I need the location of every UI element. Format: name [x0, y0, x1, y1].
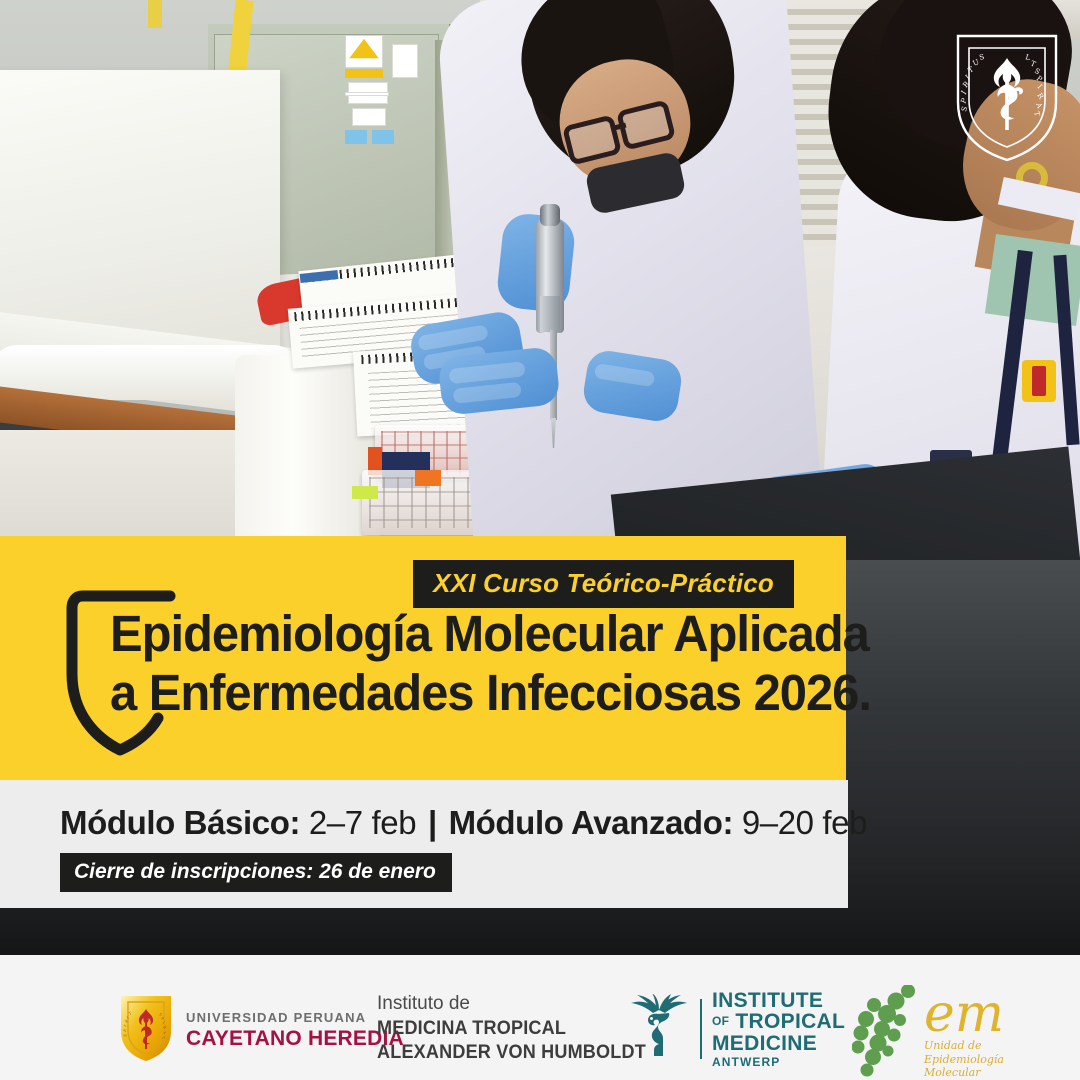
svg-text:T: T — [1032, 110, 1042, 118]
dates-separator: | — [425, 804, 440, 841]
course-badge: XXI Curso Teórico-Práctico — [413, 560, 794, 608]
itm-line-2-main: TROPICAL — [735, 1010, 845, 1033]
headline-panel: XXI Curso Teórico-Práctico Epidemiología… — [0, 536, 846, 780]
svg-text:I: I — [1035, 82, 1044, 91]
svg-text:A: A — [1034, 100, 1045, 110]
upch-line-1: UNIVERSIDAD PERUANA — [186, 1010, 404, 1027]
itm-antwerp-logo: INSTITUTE OF TROPICAL MEDICINE ANTWERP — [628, 990, 845, 1068]
svg-text:S: S — [978, 52, 986, 62]
imt-line-1: Instituto de — [377, 992, 470, 1017]
em-unit-logo: em Unidad de Epidemiología Molecular — [852, 985, 1004, 1080]
dna-dots-icon — [852, 985, 930, 1080]
itm-logo-text: INSTITUTE OF TROPICAL MEDICINE ANTWERP — [712, 990, 845, 1068]
imt-line-2: MEDICINA TROPICAL — [377, 1017, 566, 1042]
itm-divider — [700, 999, 702, 1059]
itm-line-3: MEDICINE — [712, 1033, 845, 1054]
dates-panel: Módulo Básico: 2–7 feb | Módulo Avanzado… — [0, 780, 848, 908]
upch-logo-text: UNIVERSIDAD PERUANA CAYETANO HEREDIA — [186, 1010, 404, 1051]
registration-deadline-label: Cierre de inscripciones: 26 de enero — [74, 860, 436, 883]
upch-logo: S P I R I T T A R I P S UNIVERSIDAD PERU… — [118, 993, 404, 1068]
title-line-2: a Enfermedades Infecciosas 2026. — [110, 663, 782, 722]
imt-avh-logo: Instituto de MEDICINA TROPICAL ALEXANDER… — [377, 992, 660, 1066]
palm-serpent-icon — [628, 994, 690, 1065]
advanced-module-value: 9–20 feb — [742, 804, 867, 841]
page-title: Epidemiología Molecular Aplicada a Enfer… — [110, 604, 810, 722]
svg-text:P: P — [959, 96, 970, 105]
basic-module-label: Módulo Básico: — [60, 804, 300, 841]
em-logo-text: em Unidad de Epidemiología Molecular — [924, 991, 1004, 1080]
em-mark: em — [924, 991, 1004, 1038]
registration-deadline-badge: Cierre de inscripciones: 26 de enero — [60, 853, 452, 892]
advanced-module-label: Módulo Avanzado: — [449, 804, 733, 841]
itm-line-1: INSTITUTE — [712, 990, 845, 1011]
em-line-3: Molecular — [924, 1066, 1004, 1080]
imt-line-3: ALEXANDER VON HUMBOLDT — [377, 1041, 646, 1066]
course-badge-label: XXI Curso Teórico-Práctico — [433, 568, 774, 598]
title-line-1: Epidemiología Molecular Aplicada — [110, 604, 782, 663]
upch-line-2: CAYETANO HEREDIA — [186, 1027, 404, 1051]
basic-module-value: 2–7 feb — [309, 804, 416, 841]
itm-line-2: OF TROPICAL — [712, 1011, 845, 1032]
svg-text:S: S — [959, 104, 969, 112]
em-line-2: Epidemiología — [924, 1053, 1004, 1067]
itm-line-2-small: OF — [712, 1014, 729, 1028]
upch-shield-icon: S P I R I T T A R I P S — [118, 993, 174, 1068]
module-dates: Módulo Básico: 2–7 feb | Módulo Avanzado… — [60, 804, 867, 842]
itm-line-4: ANTWERP — [712, 1056, 845, 1068]
upch-crest-watermark: S P I R I T U S T A R I P S T L — [952, 28, 1062, 163]
poster: S P I R I T U S T A R I P S T L — [0, 0, 1080, 1080]
